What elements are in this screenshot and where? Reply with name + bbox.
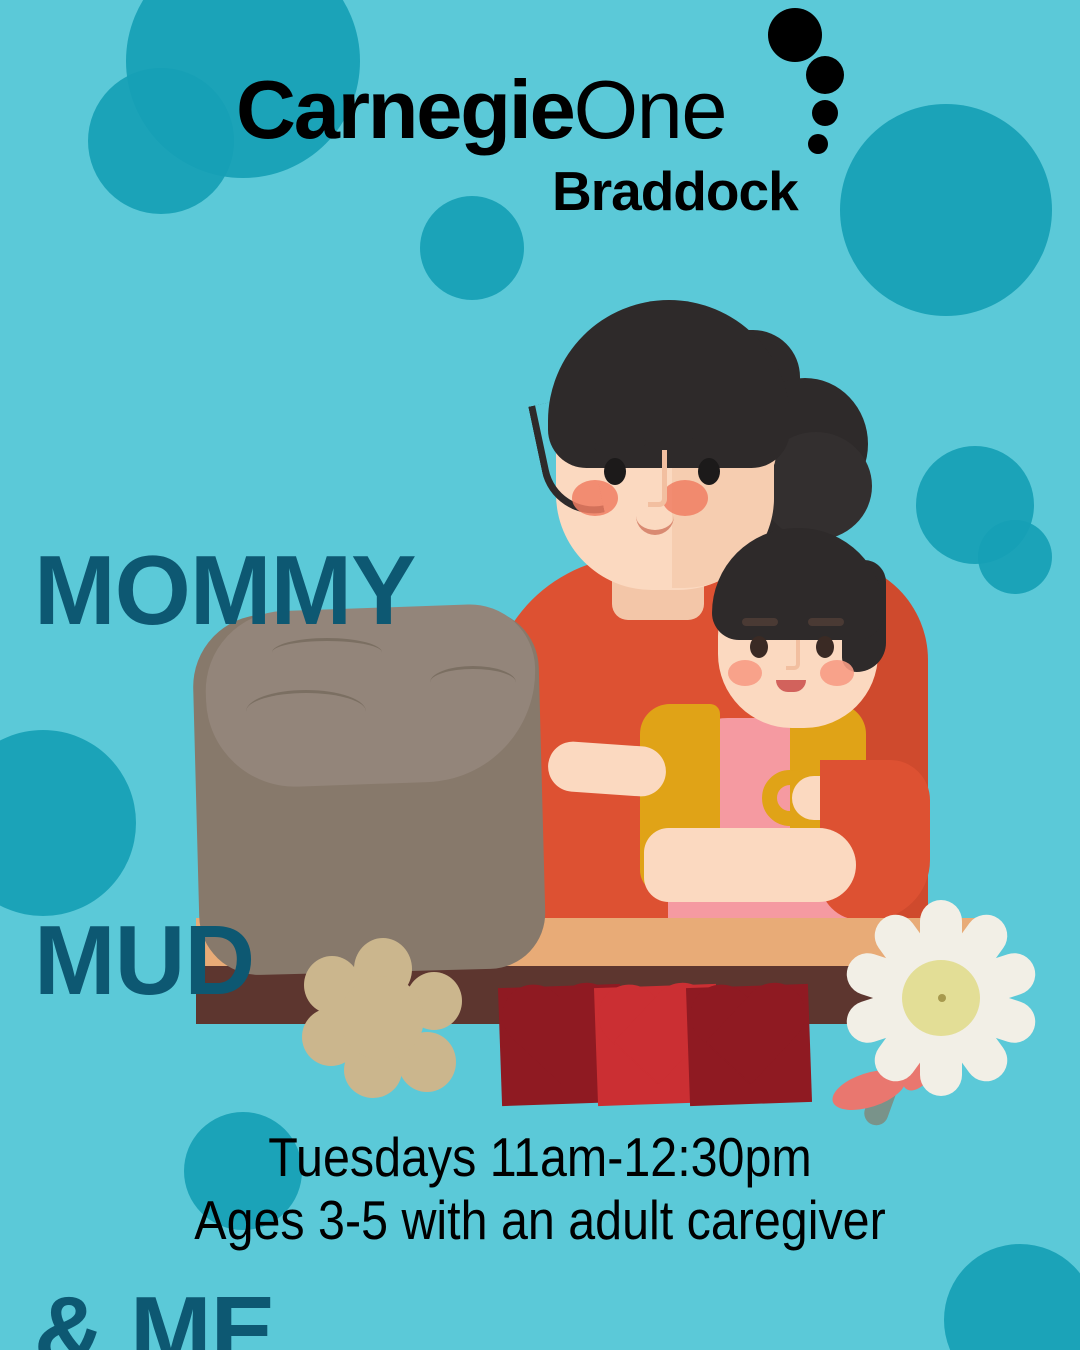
logo-wordmark: CarnegieOne <box>236 68 726 151</box>
mother-eye-left <box>604 458 626 485</box>
logo-name-light: One <box>574 63 726 156</box>
logo-dot-4 <box>808 134 828 154</box>
child-eyebrow-right <box>808 618 844 626</box>
child-eye-right <box>816 636 834 658</box>
mother-blush-right <box>662 480 708 516</box>
event-audience-line: Ages 3-5 with an adult caregiver <box>65 1189 1015 1252</box>
event-details: Tuesdays 11am-12:30pm Ages 3-5 with an a… <box>0 1126 1080 1251</box>
logo-name-bold: Carnegie <box>236 63 574 156</box>
logo-dot-2 <box>806 56 844 94</box>
child-blush-left <box>728 660 762 686</box>
clay-heart-right <box>686 984 812 1106</box>
headline-line-2: MUD <box>34 899 416 1022</box>
mother-eye-right <box>698 458 720 485</box>
clay-daisy <box>838 898 1042 1098</box>
poster-canvas: CarnegieOne Braddock MOMMY MUD & ME Tues… <box>0 0 1080 1350</box>
mother-arm <box>644 828 856 902</box>
headline-line-1: MOMMY <box>34 529 416 652</box>
mother-nose <box>648 450 667 507</box>
child-nose <box>786 640 800 670</box>
child-blush-right <box>820 660 854 686</box>
headline-line-3: & ME <box>34 1270 416 1350</box>
child-eyebrow-left <box>742 618 778 626</box>
child-eye-left <box>750 636 768 658</box>
daisy-center-dot <box>938 994 946 1002</box>
clay-block-texture-line-2 <box>430 666 516 699</box>
logo-dot-1 <box>768 8 822 62</box>
logo-dot-3 <box>812 100 838 126</box>
mother-blush-left <box>572 480 618 516</box>
event-schedule-line: Tuesdays 11am-12:30pm <box>65 1126 1015 1189</box>
carnegieone-logo[interactable]: CarnegieOne Braddock <box>236 68 856 228</box>
child-arm-left <box>546 740 667 798</box>
logo-branch-name: Braddock <box>552 164 798 219</box>
